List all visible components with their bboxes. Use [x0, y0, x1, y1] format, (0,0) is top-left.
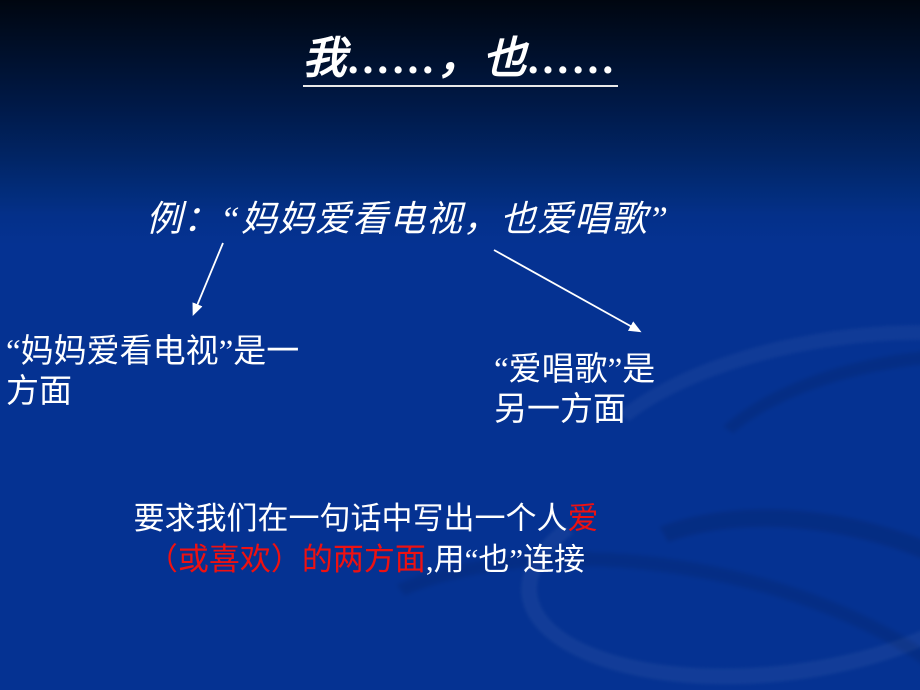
presentation-slide: 我……，也…… 例：“妈妈爱看电视，也爱唱歌” “妈妈爱看电视”是一方面 “爱唱… [0, 0, 920, 690]
explanation-line1-highlight: 爱 [568, 501, 599, 536]
branch-text-left: “妈妈爱看电视”是一方面 [6, 332, 306, 413]
arrow-to-left-branch [196, 243, 223, 308]
arrow-to-right-branch [494, 250, 634, 328]
explanation-line1-white: 要求我们在一句话中写出一个人 [134, 501, 568, 536]
branch-text-right: “爱唱歌”是另一方面 [494, 350, 660, 431]
explanation-text: 要求我们在一句话中写出一个人爱（或喜欢）的两方面,用“也”连接 [46, 498, 686, 580]
explanation-line2-white: ,用“也”连接 [426, 542, 585, 577]
explanation-line2-highlight: （或喜欢）的两方面 [147, 542, 426, 577]
explanation-line2: （或喜欢）的两方面,用“也”连接 [46, 539, 686, 580]
